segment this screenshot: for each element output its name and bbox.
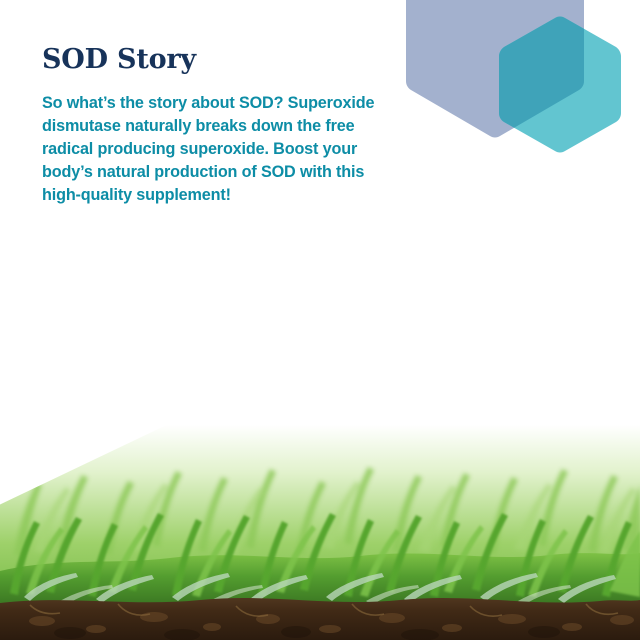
body-copy: So what’s the story about SOD? Superoxid… — [42, 75, 394, 207]
lavender-hexagon — [406, 0, 584, 138]
hexagon-decoration-svg — [400, 0, 640, 170]
hexagon-decoration — [400, 0, 640, 170]
teal-hexagon — [499, 17, 621, 153]
grass-and-soil-illustration — [0, 425, 640, 640]
hexagon-overlap — [406, 0, 584, 138]
grass-and-soil-photo — [0, 425, 640, 640]
product-info-card: SOD Story So what’s the story about SOD?… — [0, 0, 640, 640]
text-block: SOD Story So what’s the story about SOD?… — [42, 44, 402, 207]
page-title: SOD Story — [42, 44, 402, 75]
